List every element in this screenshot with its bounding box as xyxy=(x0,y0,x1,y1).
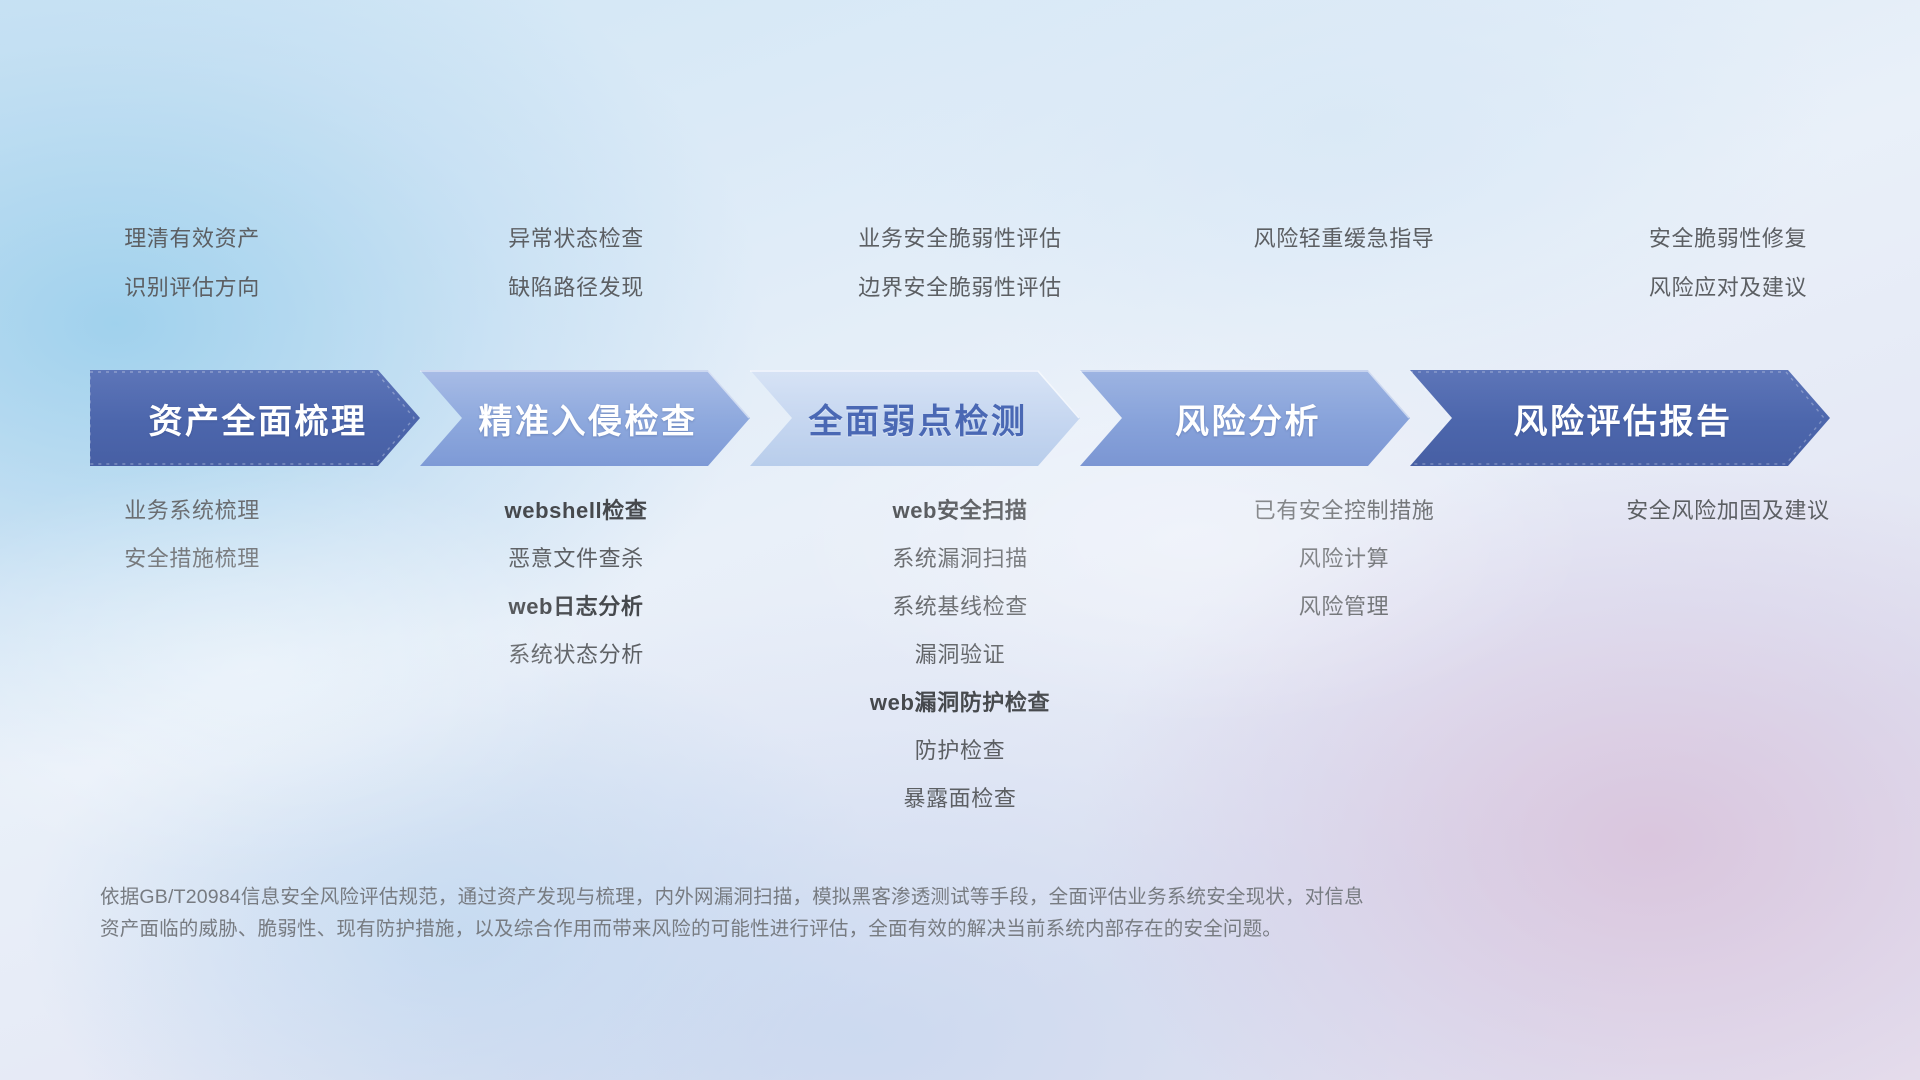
stage-label: 风险评估报告 xyxy=(1508,394,1733,443)
bottom-note: 暴露面检查 xyxy=(903,788,1016,810)
top-note: 异常状态检查 xyxy=(508,228,644,250)
top-note: 业务安全脆弱性评估 xyxy=(858,228,1061,250)
top-note: 风险应对及建议 xyxy=(1649,277,1807,299)
bottom-notes-column-0: 业务系统梳理 安全措施梳理 xyxy=(0,500,384,596)
bottom-note: 系统状态分析 xyxy=(508,644,644,666)
bottom-note: 防护检查 xyxy=(915,740,1005,762)
bottom-note: 已有安全控制措施 xyxy=(1254,500,1435,522)
bottom-note: 系统漏洞扫描 xyxy=(892,548,1028,570)
top-notes-column-0: 理清有效资产 识别评估方向 xyxy=(0,228,384,299)
stage-label: 风险分析 xyxy=(1169,394,1321,443)
bottom-note: web日志分析 xyxy=(509,596,644,618)
top-note: 边界安全脆弱性评估 xyxy=(858,277,1061,299)
top-note: 理清有效资产 xyxy=(124,228,260,250)
bottom-note: web安全扫描 xyxy=(893,500,1028,522)
bottom-notes-column-4: 安全风险加固及建议 xyxy=(1536,500,1920,548)
stage-chevron-3[interactable]: 风险分析 xyxy=(1080,370,1410,466)
stage-label: 全面弱点检测 xyxy=(803,394,1028,443)
bottom-note: web漏洞防护检查 xyxy=(870,692,1050,714)
bottom-note: 风险计算 xyxy=(1299,548,1389,570)
bottom-notes-column-2: web安全扫描 系统漏洞扫描 系统基线检查 漏洞验证 web漏洞防护检查 防护检… xyxy=(768,500,1152,836)
bottom-note: 恶意文件查杀 xyxy=(508,548,644,570)
footer-line-2: 资产面临的威胁、脆弱性、现有防护措施，以及综合作用而带来风险的可能性进行评估，全… xyxy=(100,914,1620,946)
top-notes-column-1: 异常状态检查 缺陷路径发现 xyxy=(384,228,768,299)
stage-chevron-0[interactable]: 资产全面梳理 xyxy=(90,370,420,466)
top-notes-column-3: 风险轻重缓急指导 xyxy=(1152,228,1536,299)
process-chevron-band: 资产全面梳理 精准入侵检查 xyxy=(0,370,1920,466)
footer-description: 依据GB/T20984信息安全风险评估规范，通过资产发现与梳理，内外网漏洞扫描，… xyxy=(100,882,1620,945)
bottom-notes-column-3: 已有安全控制措施 风险计算 风险管理 xyxy=(1152,500,1536,644)
footer-line-1: 依据GB/T20984信息安全风险评估规范，通过资产发现与梳理，内外网漏洞扫描，… xyxy=(100,882,1620,914)
bottom-note: 漏洞验证 xyxy=(915,644,1005,666)
top-note: 缺陷路径发现 xyxy=(508,277,644,299)
top-notes-row: 理清有效资产 识别评估方向 异常状态检查 缺陷路径发现 业务安全脆弱性评估 边界… xyxy=(0,228,1920,299)
stage-label: 资产全面梳理 xyxy=(143,394,368,443)
bottom-note: 安全措施梳理 xyxy=(124,548,260,570)
bottom-note: 系统基线检查 xyxy=(892,596,1028,618)
top-notes-column-2: 业务安全脆弱性评估 边界安全脆弱性评估 xyxy=(768,228,1152,299)
bottom-notes-column-1: webshell检查 恶意文件查杀 web日志分析 系统状态分析 xyxy=(384,500,768,692)
bottom-note: webshell检查 xyxy=(505,500,648,522)
slide-canvas: 理清有效资产 识别评估方向 异常状态检查 缺陷路径发现 业务安全脆弱性评估 边界… xyxy=(0,0,1920,1080)
stage-chevron-1[interactable]: 精准入侵检查 xyxy=(420,370,750,466)
bottom-notes-row: 业务系统梳理 安全措施梳理 webshell检查 恶意文件查杀 web日志分析 … xyxy=(0,500,1920,836)
bottom-note: 安全风险加固及建议 xyxy=(1626,500,1829,522)
top-note: 风险轻重缓急指导 xyxy=(1254,228,1435,250)
stage-chevron-2[interactable]: 全面弱点检测 xyxy=(750,370,1080,466)
top-notes-column-4: 安全脆弱性修复 风险应对及建议 xyxy=(1536,228,1920,299)
stage-label: 精准入侵检查 xyxy=(473,394,698,443)
bottom-note: 业务系统梳理 xyxy=(124,500,260,522)
bottom-note: 风险管理 xyxy=(1299,596,1389,618)
stage-chevron-4[interactable]: 风险评估报告 xyxy=(1410,370,1830,466)
top-note: 识别评估方向 xyxy=(124,277,260,299)
top-note: 安全脆弱性修复 xyxy=(1649,228,1807,250)
